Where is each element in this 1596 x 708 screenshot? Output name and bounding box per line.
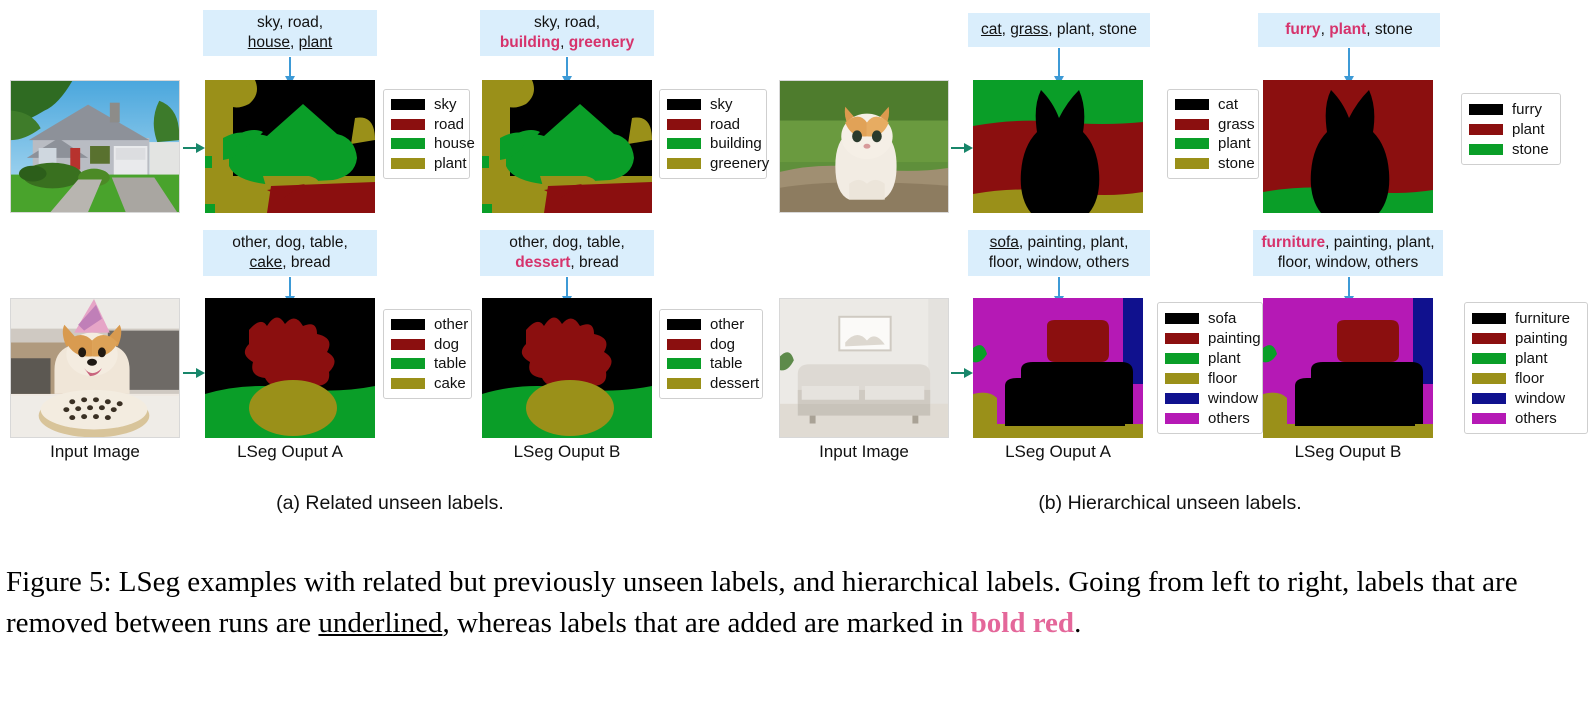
arrow-down-b-row1-b — [1348, 48, 1350, 77]
label-token-added: building — [500, 34, 560, 51]
label-token: , — [1366, 21, 1375, 38]
legend-label: dessert — [710, 376, 759, 391]
label-token: table — [587, 234, 621, 251]
legend-row: stone — [1469, 141, 1552, 158]
legend-row: table — [391, 356, 463, 373]
figure-caption-underlined: underlined — [318, 607, 442, 639]
label-token: , — [1048, 21, 1057, 38]
legend-row: other — [667, 316, 754, 333]
label-token: dog — [552, 234, 578, 251]
legend-color-swatch — [1165, 333, 1199, 344]
prompt-text: cat, grass, plant, stone — [981, 20, 1137, 40]
segmentation-map-a-row2-a — [205, 298, 375, 438]
legend-row: plant — [1469, 121, 1552, 138]
segmentation-map-a-row1-b — [482, 80, 652, 213]
label-token-added: greenery — [569, 34, 634, 51]
figure-5: sky, road,house, plant sky, road,buildin… — [0, 0, 1596, 708]
prompt-text: sky, road,house, plant — [248, 13, 332, 53]
label-token: other — [232, 234, 266, 251]
label-token: , — [1078, 254, 1087, 271]
legend-label: house — [434, 136, 475, 151]
arrow-right-b-row2 — [951, 372, 965, 374]
label-token: , — [1367, 254, 1376, 271]
legend-label: painting — [1208, 331, 1261, 346]
legend-label: sky — [710, 97, 733, 112]
label-token: sky — [257, 14, 279, 31]
label-token: plant — [1397, 234, 1431, 251]
legend-b-row1-b: furryplantstone — [1461, 93, 1561, 165]
subfigure-caption-b: (b) Hierarchical unseen labels. — [830, 492, 1510, 515]
legend-label: others — [1515, 411, 1557, 426]
label-token: road — [565, 14, 596, 31]
label-token: window — [1027, 254, 1078, 271]
prompt-box-b-row2-a: sofa, painting, plant,floor, window, oth… — [968, 230, 1150, 276]
arrow-down-a-row2-b — [566, 277, 568, 297]
legend-row: road — [391, 116, 461, 133]
label-token: , — [1430, 234, 1434, 251]
label-token-removed: cake — [249, 254, 282, 271]
legend-label: road — [710, 117, 740, 132]
legend-color-swatch — [667, 119, 701, 130]
legend-color-swatch — [391, 99, 425, 110]
legend-label: road — [434, 117, 464, 132]
label-token: bread — [579, 254, 619, 271]
legend-color-swatch — [1175, 158, 1209, 169]
legend-label: other — [710, 317, 744, 332]
label-token: stone — [1375, 21, 1413, 38]
input-image-kitten — [779, 80, 949, 213]
legend-color-swatch — [1472, 393, 1506, 404]
legend-label: cat — [1218, 97, 1238, 112]
label-token: , — [596, 14, 600, 31]
label-token: , — [578, 234, 587, 251]
legend-label: furniture — [1515, 311, 1570, 326]
legend-row: others — [1472, 410, 1579, 427]
legend-label: grass — [1218, 117, 1255, 132]
prompt-text: sofa, painting, plant,floor, window, oth… — [989, 233, 1130, 273]
legend-label: plant — [1208, 351, 1241, 366]
legend-color-swatch — [1472, 333, 1506, 344]
label-token: others — [1086, 254, 1129, 271]
label-token: , — [556, 14, 565, 31]
legend-b-row2-a: sofapaintingplantfloorwindowothers — [1157, 302, 1263, 434]
label-token: , — [343, 234, 347, 251]
prompt-box-a-row1-a: sky, road,house, plant — [203, 10, 377, 56]
legend-row: furry — [1469, 101, 1552, 118]
legend-label: painting — [1515, 331, 1568, 346]
segmentation-map-a-row1-a — [205, 80, 375, 213]
legend-label: greenery — [710, 156, 769, 171]
prompt-text: furry, plant, stone — [1285, 20, 1413, 40]
label-token-added: plant — [1329, 21, 1366, 38]
legend-a-row2-a: otherdogtablecake — [383, 309, 472, 399]
label-token: road — [288, 14, 319, 31]
label-token-added: furry — [1285, 21, 1320, 38]
legend-color-swatch — [1472, 313, 1506, 324]
legend-label: table — [434, 356, 467, 371]
legend-color-swatch — [1165, 313, 1199, 324]
legend-color-swatch — [1165, 373, 1199, 384]
column-caption-b-output-b: LSeg Ouput B — [1263, 442, 1433, 462]
label-token-removed: sofa — [990, 234, 1019, 251]
label-token: , — [290, 34, 299, 51]
label-token: painting — [1334, 234, 1388, 251]
legend-row: dog — [391, 336, 463, 353]
legend-label: floor — [1515, 371, 1544, 386]
legend-a-row1-a: skyroadhouseplant — [383, 89, 470, 179]
legend-color-swatch — [391, 158, 425, 169]
legend-label: sky — [434, 97, 457, 112]
legend-row: plant — [1472, 350, 1579, 367]
legend-color-swatch — [667, 378, 701, 389]
legend-color-swatch — [1165, 413, 1199, 424]
legend-row: dog — [667, 336, 754, 353]
label-token: floor — [1278, 254, 1307, 271]
legend-color-swatch — [391, 319, 425, 330]
label-token: painting — [1028, 234, 1082, 251]
segmentation-map-a-row2-b — [482, 298, 652, 438]
legend-row: painting — [1165, 330, 1254, 347]
legend-label: dog — [710, 337, 735, 352]
prompt-box-a-row2-b: other, dog, table,dessert, bread — [480, 230, 654, 276]
legend-row: stone — [1175, 155, 1250, 172]
legend-row: house — [391, 136, 461, 153]
legend-label: stone — [1218, 156, 1255, 171]
segmentation-map-b-row1-b — [1263, 80, 1433, 213]
legend-row: building — [667, 136, 758, 153]
prompt-text: sky, road,building, greenery — [500, 13, 634, 53]
legend-row: window — [1165, 390, 1254, 407]
column-caption-a-output-a: LSeg Ouput A — [205, 442, 375, 462]
legend-row: other — [391, 316, 463, 333]
arrow-right-b-row1 — [951, 147, 965, 149]
legend-row: greenery — [667, 155, 758, 172]
label-token: , — [1018, 254, 1027, 271]
arrow-down-a-row1-b — [566, 57, 568, 77]
legend-color-swatch — [391, 378, 425, 389]
legend-row: others — [1165, 410, 1254, 427]
legend-color-swatch — [667, 339, 701, 350]
input-image-living-room — [779, 298, 949, 438]
label-token: , — [1325, 234, 1334, 251]
input-image-house — [10, 80, 180, 213]
legend-color-swatch — [1469, 124, 1503, 135]
legend-label: building — [710, 136, 762, 151]
legend-row: dessert — [667, 375, 754, 392]
label-token-removed: cat — [981, 21, 1002, 38]
label-token: , — [1307, 254, 1316, 271]
legend-row: sky — [667, 96, 758, 113]
legend-color-swatch — [667, 319, 701, 330]
legend-label: plant — [1515, 351, 1548, 366]
legend-color-swatch — [1469, 144, 1503, 155]
legend-row: plant — [391, 155, 461, 172]
legend-label: others — [1208, 411, 1250, 426]
label-token: , — [282, 254, 291, 271]
prompt-box-a-row1-b: sky, road,building, greenery — [480, 10, 654, 56]
legend-color-swatch — [1165, 353, 1199, 364]
label-token: , — [279, 14, 288, 31]
label-token: , — [1124, 234, 1128, 251]
legend-row: plant — [1175, 136, 1250, 153]
prompt-box-a-row2-a: other, dog, table,cake, bread — [203, 230, 377, 276]
legend-label: plant — [1512, 122, 1545, 137]
segmentation-map-b-row2-b — [1263, 298, 1433, 438]
label-token-added: dessert — [515, 254, 570, 271]
label-token: sky — [534, 14, 556, 31]
legend-color-swatch — [391, 138, 425, 149]
figure-caption-middle: , whereas labels that are added are mark… — [442, 607, 970, 639]
label-token-removed: plant — [299, 34, 333, 51]
legend-row: road — [667, 116, 758, 133]
legend-row: floor — [1472, 370, 1579, 387]
figure-caption-suffix: . — [1074, 607, 1081, 639]
legend-row: plant — [1165, 350, 1254, 367]
legend-label: dog — [434, 337, 459, 352]
legend-color-swatch — [667, 99, 701, 110]
subfigure-caption-a: (a) Related unseen labels. — [60, 492, 720, 515]
legend-color-swatch — [1472, 413, 1506, 424]
label-token: , — [1019, 234, 1028, 251]
label-token: , — [570, 254, 579, 271]
legend-row: table — [667, 356, 754, 373]
arrow-down-b-row2-a — [1058, 277, 1060, 297]
legend-row: window — [1472, 390, 1579, 407]
prompt-text: furniture, painting, plant,floor, window… — [1261, 233, 1434, 273]
figure-caption-boldred: bold red — [971, 607, 1074, 639]
legend-color-swatch — [1472, 353, 1506, 364]
arrow-right-a-row2 — [183, 372, 197, 374]
input-image-corgi-cake — [10, 298, 180, 438]
prompt-box-b-row1-a: cat, grass, plant, stone — [968, 13, 1150, 47]
label-token-removed: grass — [1010, 21, 1048, 38]
legend-color-swatch — [1175, 138, 1209, 149]
legend-a-row1-b: skyroadbuildinggreenery — [659, 89, 767, 179]
arrow-down-a-row1-a — [289, 57, 291, 77]
label-token: other — [509, 234, 543, 251]
legend-color-swatch — [1175, 99, 1209, 110]
label-token: , — [1321, 21, 1330, 38]
prompt-text: other, dog, table,dessert, bread — [509, 233, 625, 273]
label-token: , — [560, 34, 569, 51]
legend-color-swatch — [391, 339, 425, 350]
prompt-box-b-row1-b: furry, plant, stone — [1258, 13, 1440, 47]
legend-row: furniture — [1472, 310, 1579, 327]
label-token: table — [310, 234, 344, 251]
legend-b-row1-a: catgrassplantstone — [1167, 89, 1259, 179]
legend-label: table — [710, 356, 743, 371]
label-token: , — [620, 234, 624, 251]
legend-row: grass — [1175, 116, 1250, 133]
legend-label: furry — [1512, 102, 1542, 117]
label-token: , — [319, 14, 323, 31]
legend-label: window — [1208, 391, 1258, 406]
arrow-down-a-row2-a — [289, 277, 291, 297]
legend-color-swatch — [667, 138, 701, 149]
label-token: window — [1316, 254, 1367, 271]
column-caption-a-output-b: LSeg Ouput B — [482, 442, 652, 462]
legend-label: plant — [1218, 136, 1251, 151]
legend-row: painting — [1472, 330, 1579, 347]
label-token: , — [1090, 21, 1099, 38]
legend-b-row2-b: furniturepaintingplantfloorwindowothers — [1464, 302, 1588, 434]
segmentation-map-b-row1-a — [973, 80, 1143, 213]
legend-label: cake — [434, 376, 466, 391]
legend-label: stone — [1512, 142, 1549, 157]
legend-color-swatch — [391, 358, 425, 369]
legend-a-row2-b: otherdogtabledessert — [659, 309, 763, 399]
label-token: others — [1375, 254, 1418, 271]
legend-row: cat — [1175, 96, 1250, 113]
legend-label: window — [1515, 391, 1565, 406]
label-token: plant — [1057, 21, 1091, 38]
legend-color-swatch — [1175, 119, 1209, 130]
legend-row: cake — [391, 375, 463, 392]
label-token: bread — [291, 254, 331, 271]
column-caption-b-input: Input Image — [779, 442, 949, 462]
arrow-down-b-row1-a — [1058, 48, 1060, 77]
column-caption-b-output-a: LSeg Ouput A — [973, 442, 1143, 462]
label-token: stone — [1099, 21, 1137, 38]
legend-color-swatch — [391, 119, 425, 130]
label-token: floor — [989, 254, 1018, 271]
legend-label: sofa — [1208, 311, 1236, 326]
legend-row: floor — [1165, 370, 1254, 387]
arrow-down-b-row2-b — [1348, 277, 1350, 297]
legend-color-swatch — [1165, 393, 1199, 404]
arrow-right-a-row1 — [183, 147, 197, 149]
legend-row: sky — [391, 96, 461, 113]
label-token: dog — [275, 234, 301, 251]
legend-color-swatch — [1472, 373, 1506, 384]
legend-color-swatch — [667, 158, 701, 169]
legend-color-swatch — [1469, 104, 1503, 115]
legend-color-swatch — [667, 358, 701, 369]
label-token-added: furniture — [1261, 234, 1325, 251]
legend-label: plant — [434, 156, 467, 171]
figure-caption: Figure 5: LSeg examples with related but… — [6, 562, 1592, 645]
label-token: , — [301, 234, 310, 251]
segmentation-map-b-row2-a — [973, 298, 1143, 438]
label-token: , — [1388, 234, 1397, 251]
column-caption-a-input: Input Image — [10, 442, 180, 462]
legend-label: floor — [1208, 371, 1237, 386]
label-token: , — [1002, 21, 1011, 38]
label-token-removed: house — [248, 34, 290, 51]
prompt-box-b-row2-b: furniture, painting, plant,floor, window… — [1253, 230, 1443, 276]
legend-label: other — [434, 317, 468, 332]
prompt-text: other, dog, table,cake, bread — [232, 233, 348, 273]
label-token: plant — [1090, 234, 1124, 251]
legend-row: sofa — [1165, 310, 1254, 327]
